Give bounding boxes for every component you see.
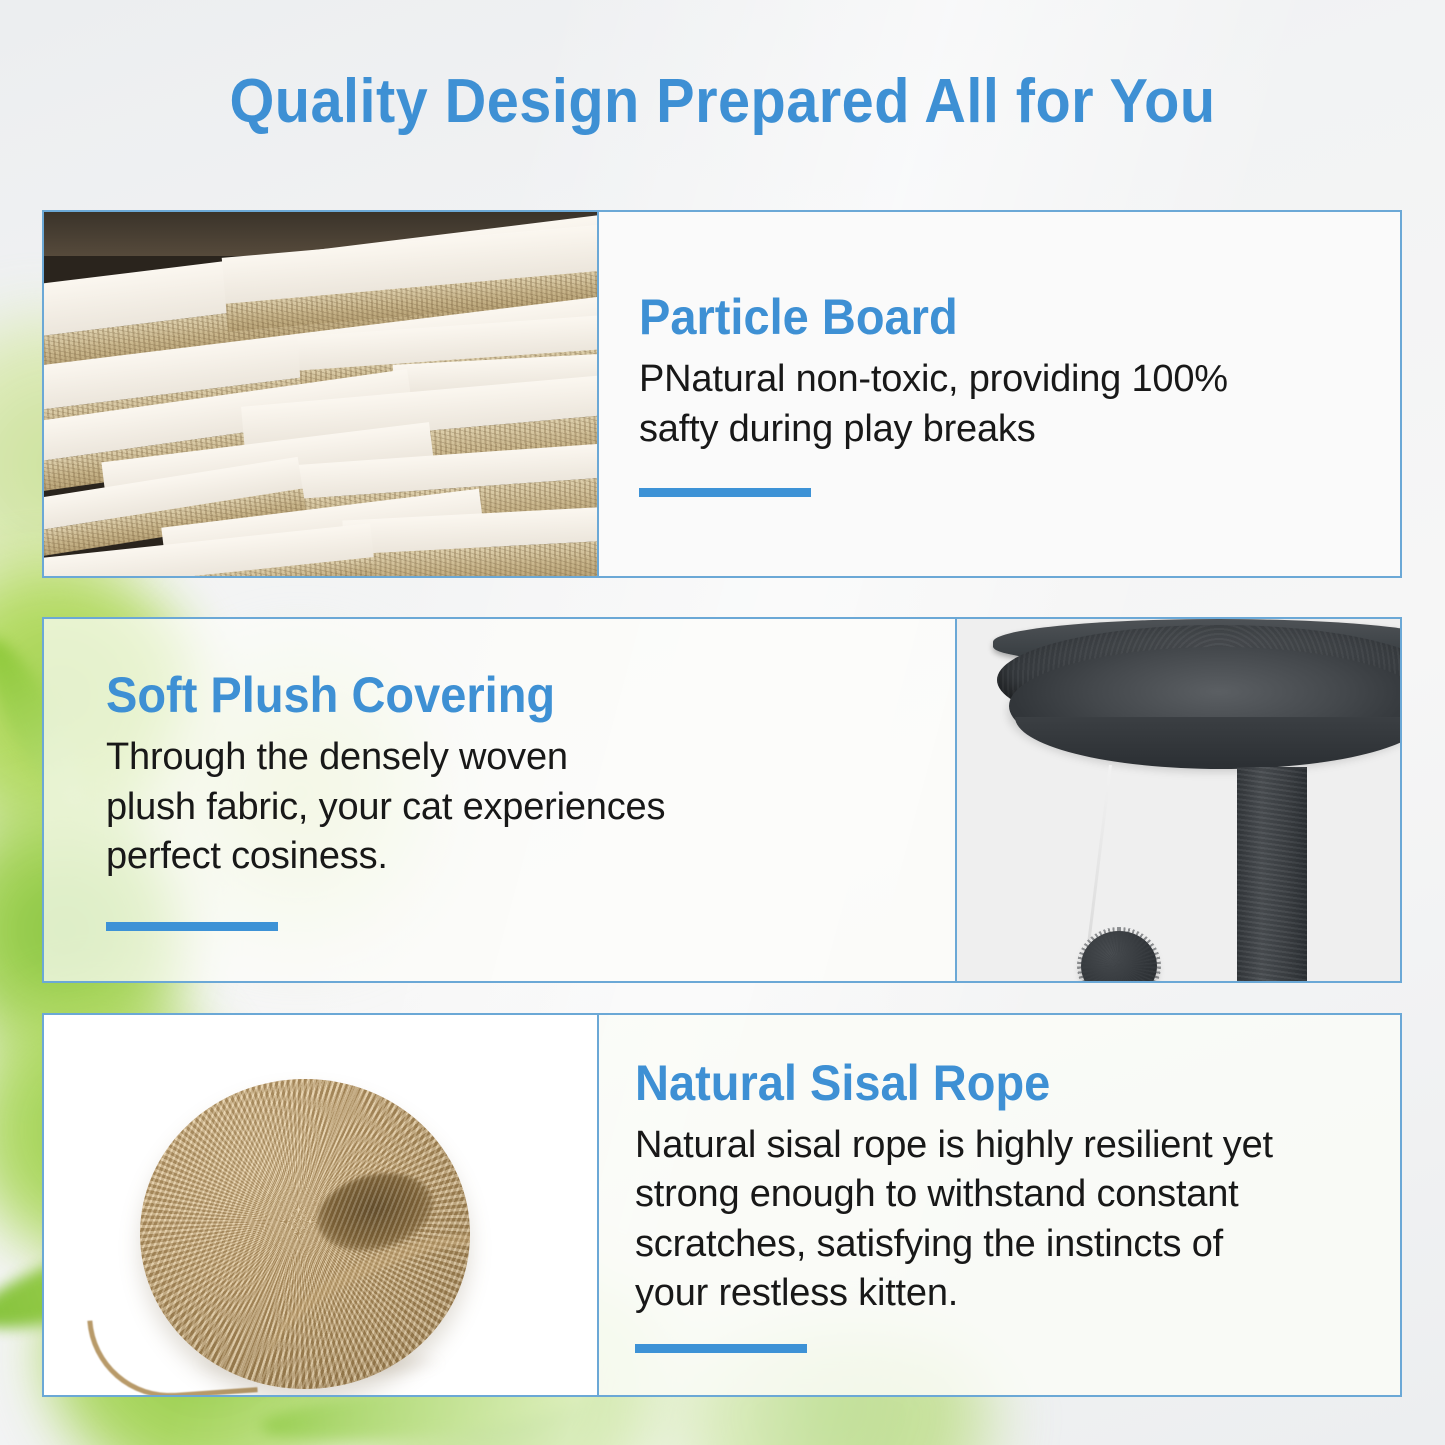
perch-underside [1015,717,1400,769]
perch-post [1237,767,1307,981]
card-body-line: PNatural non-toxic, providing 100% [639,355,1356,404]
accent-bar [635,1344,807,1353]
card-body-line: Natural sisal rope is highly resilient y… [635,1121,1366,1170]
sisal-rope-text: Natural Sisal Rope Natural sisal rope is… [599,1015,1400,1395]
accent-bar [639,488,811,497]
soft-plush-text: Soft Plush Covering Through the densely … [44,619,957,981]
card-heading: Soft Plush Covering [106,669,866,721]
rope-ball-center [309,1162,441,1262]
particle-board-text: Particle Board PNatural non-toxic, provi… [599,212,1400,576]
card-body: PNatural non-toxic, providing 100% safty… [639,355,1356,454]
card-body-line: your restless kitten. [635,1269,1366,1318]
card-heading: Natural Sisal Rope [635,1057,1322,1109]
sisal-rope-artwork [44,1015,597,1395]
plush-cat-perch-photo [957,619,1400,981]
card-body-line: plush fabric, your cat experiences [106,783,915,832]
rope-wrap-strand [245,1200,470,1389]
feature-card-soft-plush-covering: Soft Plush Covering Through the densely … [42,617,1402,983]
card-body-line: scratches, satisfying the instincts of [635,1220,1366,1269]
card-body-line: Through the densely woven [106,733,915,782]
particle-board-artwork [44,212,597,576]
card-body-line: perfect cosiness. [106,832,915,881]
card-body: Through the densely woven plush fabric, … [106,733,915,881]
sisal-rope-ball-photo [44,1015,599,1395]
card-body: Natural sisal rope is highly resilient y… [635,1121,1366,1319]
toy-string [1088,765,1112,940]
pompom-toy [1081,931,1157,981]
plush-perch-artwork [957,619,1400,981]
feature-card-particle-board: Particle Board PNatural non-toxic, provi… [42,210,1402,578]
feature-card-natural-sisal-rope: Natural Sisal Rope Natural sisal rope is… [42,1013,1402,1397]
page-title: Quality Design Prepared All for You [51,66,1395,137]
particle-board-photo [44,212,599,576]
card-body-line: strong enough to withstand constant [635,1170,1366,1219]
card-body-line: safty during play breaks [639,405,1356,454]
rope-ball [140,1079,470,1389]
card-heading: Particle Board [639,291,1313,343]
accent-bar [106,922,278,931]
